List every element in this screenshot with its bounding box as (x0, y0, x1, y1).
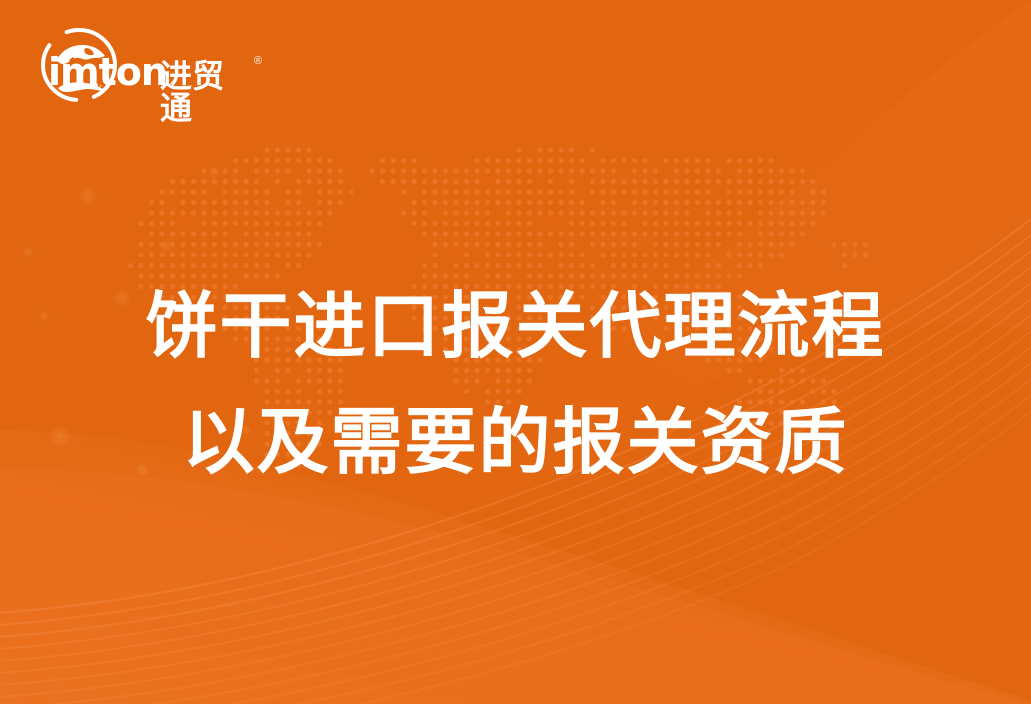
poster-canvas: imton 进贸通 ® 饼干进口报关代理流程 以及需要的报关资质 (0, 0, 1031, 704)
trademark-icon: ® (254, 56, 262, 67)
headline-line-2: 以及需要的报关资质 (0, 384, 1031, 500)
logo-wordmark: imton (48, 53, 167, 91)
headline-line-1: 饼干进口报关代理流程 (0, 268, 1031, 384)
brand-logo[interactable]: imton 进贸通 ® (38, 26, 238, 106)
logo-chinese-name: 进贸通 (160, 60, 238, 124)
headline-block: 饼干进口报关代理流程 以及需要的报关资质 (0, 268, 1031, 500)
